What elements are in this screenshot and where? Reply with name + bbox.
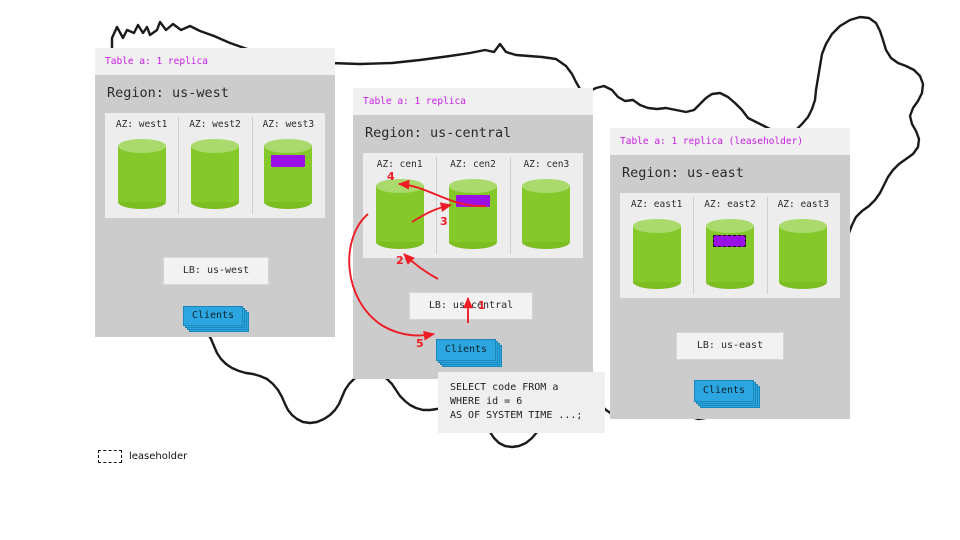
cylinder-body [191,146,239,202]
cylinder-top [522,179,570,193]
load-balancer-us-west[interactable]: LB: us-west [163,257,269,285]
az-cen1-label: AZ: cen1 [377,160,423,170]
region-us-east-title: Region: us-east [620,155,840,194]
cylinder-top [376,179,424,193]
replica-chip-west3 [271,155,305,167]
legend-leaseholder: leaseholder [98,450,187,463]
node-cylinder-cen2[interactable] [449,179,497,249]
clients-us-central-label: Clients [436,339,496,361]
az-west1-label: AZ: west1 [116,120,167,130]
node-cylinder-west2[interactable] [191,139,239,209]
cylinder-top [633,219,681,233]
cylinder-top [191,139,239,153]
region-us-west-az-row: AZ: west1 AZ: west2 [105,113,325,218]
az-cen3-label: AZ: cen3 [523,160,569,170]
cylinder-body [706,226,754,282]
region-us-west-body: Region: us-west AZ: west1 AZ: west2 [95,75,335,337]
az-cen2[interactable]: AZ: cen2 [436,153,509,258]
node-cylinder-cen3[interactable] [522,179,570,249]
region-us-east-body: Region: us-east AZ: east1 AZ: east2 [610,155,850,419]
cylinder-body [264,146,312,202]
cylinder-top [779,219,827,233]
az-west3[interactable]: AZ: west3 [252,113,325,218]
az-west2[interactable]: AZ: west2 [178,113,251,218]
az-east1-label: AZ: east1 [631,200,682,210]
node-cylinder-east1[interactable] [633,219,681,289]
clients-us-central[interactable]: Clients [436,339,510,367]
node-cylinder-west1[interactable] [118,139,166,209]
node-cylinder-east3[interactable] [779,219,827,289]
region-us-east-az-row: AZ: east1 AZ: east2 [620,193,840,298]
clients-us-east[interactable]: Clients [694,380,768,408]
az-cen1[interactable]: AZ: cen1 [363,153,436,258]
load-balancer-us-central[interactable]: LB: us-central [409,292,533,320]
region-us-central-title: Region: us-central [363,115,583,154]
cylinder-top [706,219,754,233]
region-us-west-replica-badge: Table a: 1 replica [95,48,335,75]
region-us-central: Table a: 1 replica Region: us-central AZ… [353,88,593,379]
az-east2-label: AZ: east2 [704,200,755,210]
replica-chip-cen2 [456,195,490,207]
region-us-west-title: Region: us-west [105,75,325,114]
cylinder-top [449,179,497,193]
cylinder-body [376,186,424,242]
region-us-central-az-row: AZ: cen1 AZ: cen2 [363,153,583,258]
node-cylinder-east2[interactable] [706,219,754,289]
leaseholder-chip-east2 [713,235,746,247]
cylinder-body [633,226,681,282]
cylinder-body [118,146,166,202]
node-cylinder-west3[interactable] [264,139,312,209]
cylinder-body [449,186,497,242]
az-east1[interactable]: AZ: east1 [620,193,693,298]
node-cylinder-cen1[interactable] [376,179,424,249]
az-cen3[interactable]: AZ: cen3 [510,153,583,258]
legend-label: leaseholder [129,452,187,462]
region-us-central-replica-badge: Table a: 1 replica [353,88,593,115]
az-east3-label: AZ: east3 [778,200,829,210]
cylinder-top [264,139,312,153]
region-us-east: Table a: 1 replica (leaseholder) Region:… [610,128,850,419]
cylinder-body [522,186,570,242]
az-west1[interactable]: AZ: west1 [105,113,178,218]
dashed-rect-icon [98,450,122,463]
cylinder-top [118,139,166,153]
az-west3-label: AZ: west3 [263,120,314,130]
diagram-canvas: Table a: 1 replica Region: us-west AZ: w… [0,0,960,540]
az-east3[interactable]: AZ: east3 [767,193,840,298]
load-balancer-us-east[interactable]: LB: us-east [676,332,784,360]
region-us-central-body: Region: us-central AZ: cen1 AZ: cen2 [353,115,593,379]
region-us-east-replica-badge: Table a: 1 replica (leaseholder) [610,128,850,155]
az-east2[interactable]: AZ: east2 [693,193,766,298]
clients-us-east-label: Clients [694,380,754,402]
sql-query-note: SELECT code FROM a WHERE id = 6 AS OF SY… [438,372,605,433]
az-west2-label: AZ: west2 [189,120,240,130]
cylinder-body [779,226,827,282]
clients-us-west[interactable]: Clients [183,306,253,332]
region-us-west: Table a: 1 replica Region: us-west AZ: w… [95,48,335,337]
az-cen2-label: AZ: cen2 [450,160,496,170]
clients-us-west-label: Clients [183,306,243,326]
